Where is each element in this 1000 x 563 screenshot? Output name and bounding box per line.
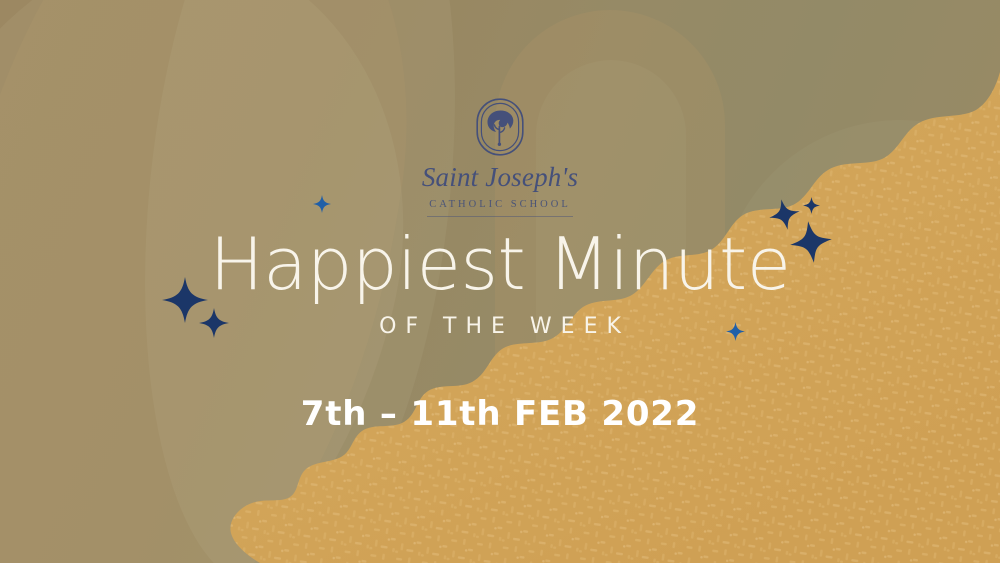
lily-emblem-icon <box>474 96 526 158</box>
logo-subwordmark: CATHOLIC SCHOOL <box>429 199 571 210</box>
poster-canvas: Saint Joseph's CATHOLIC SCHOOL Happiest … <box>0 0 1000 563</box>
page-subtitle: OF THE WEEK <box>0 316 1000 338</box>
school-logo-lockup: Saint Joseph's CATHOLIC SCHOOL <box>0 96 1000 217</box>
date-range-label: 7th – 11th FEB 2022 <box>0 397 1000 431</box>
page-title: Happiest Minute <box>0 228 1000 300</box>
logo-wordmark: Saint Joseph's <box>422 164 578 191</box>
headline-block: Happiest Minute OF THE WEEK <box>0 228 1000 338</box>
logo-divider-rule <box>427 216 573 217</box>
